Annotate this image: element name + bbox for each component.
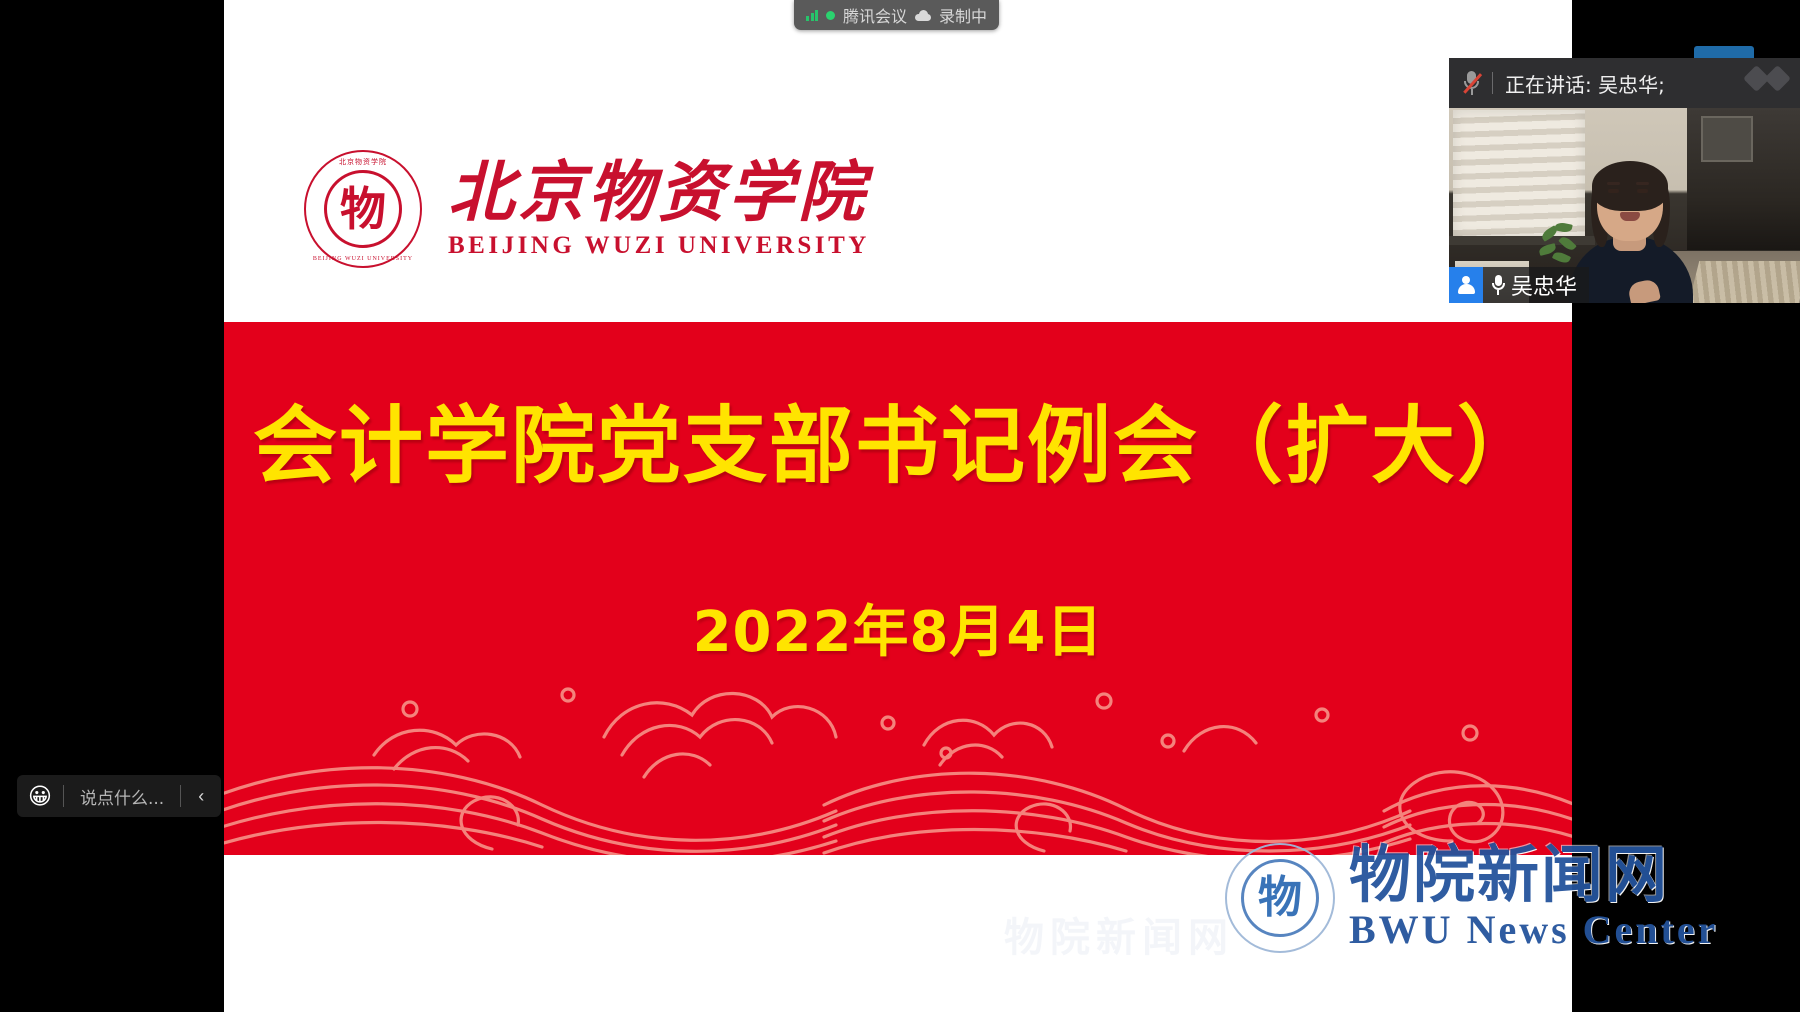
recording-dot-icon [826,11,835,20]
slide-date: 2022年8月4日 [224,587,1572,668]
mic-on-icon [1491,275,1505,295]
university-seal-icon: 北京物资学院 物 BEIJING WUZI UNIVERSITY [304,150,422,268]
slide-red-banner: 会计学院党支部书记例会（扩大） 2022年8月4日 [224,322,1572,855]
app-name-label: 腾讯会议 [843,3,907,27]
speaker-video-panel[interactable]: 正在讲话: 吴忠华; [1449,58,1800,303]
participant-video-feed[interactable]: 吴忠华 [1449,108,1800,303]
news-center-text: 物院新闻网 BWU News Center [1349,844,1718,952]
university-logo: 北京物资学院 物 BEIJING WUZI UNIVERSITY 北京物资学院 … [304,150,870,268]
cloud-icon [915,10,931,21]
news-center-name-cn: 物院新闻网 [1349,844,1718,906]
chevron-left-icon[interactable]: ‹ [181,775,221,817]
participant-name-body: 吴忠华 [1483,267,1589,303]
meeting-stage: 北京物资学院 物 BEIJING WUZI UNIVERSITY 北京物资学院 … [0,0,1800,1012]
participant-name-label: 吴忠华 [1449,267,1589,303]
slide-title: 会计学院党支部书记例会（扩大） [224,400,1572,492]
speaking-now-label: 正在讲话: 吴忠华; [1505,69,1665,98]
university-name-en: BEIJING WUZI UNIVERSITY [448,232,870,260]
emoji-icon[interactable]: 😀 [17,775,63,817]
news-center-watermark: 物 物院新闻网 BWU News Center [1225,843,1718,953]
news-center-seal-icon: 物 [1225,843,1335,953]
wm-center-glyph: 物 [1258,876,1302,920]
video-background-rug [1689,261,1800,303]
mic-muted-icon[interactable] [1463,70,1480,96]
seal-center-glyph: 物 [340,186,386,232]
person-icon [1449,267,1483,303]
faint-background-watermark: 物院新闻网 [1004,905,1234,963]
news-center-name-en: BWU News Center [1349,908,1718,952]
seal-arc-bottom-text: BEIJING WUZI UNIVERSITY [304,256,422,262]
chat-input-bar[interactable]: 😀 说点什么... ‹ [17,775,221,817]
video-background-window [1701,116,1753,162]
university-logo-text: 北京物资学院 BEIJING WUZI UNIVERSITY [448,158,870,259]
chat-input[interactable]: 说点什么... [64,784,180,809]
seal-arc-top-text: 北京物资学院 [304,157,422,167]
signal-bars-icon [806,9,818,21]
recording-status-pill[interactable]: 腾讯会议 录制中 [794,0,999,30]
speaking-status-bar: 正在讲话: 吴忠华; [1449,58,1800,108]
tencent-meeting-logo-icon [1747,69,1787,88]
video-background-blinds [1453,110,1585,238]
university-name-cn: 北京物资学院 [448,158,870,227]
participant-name: 吴忠华 [1511,269,1577,301]
speaking-bar-divider [1492,72,1493,94]
recording-status-label: 录制中 [939,3,987,27]
